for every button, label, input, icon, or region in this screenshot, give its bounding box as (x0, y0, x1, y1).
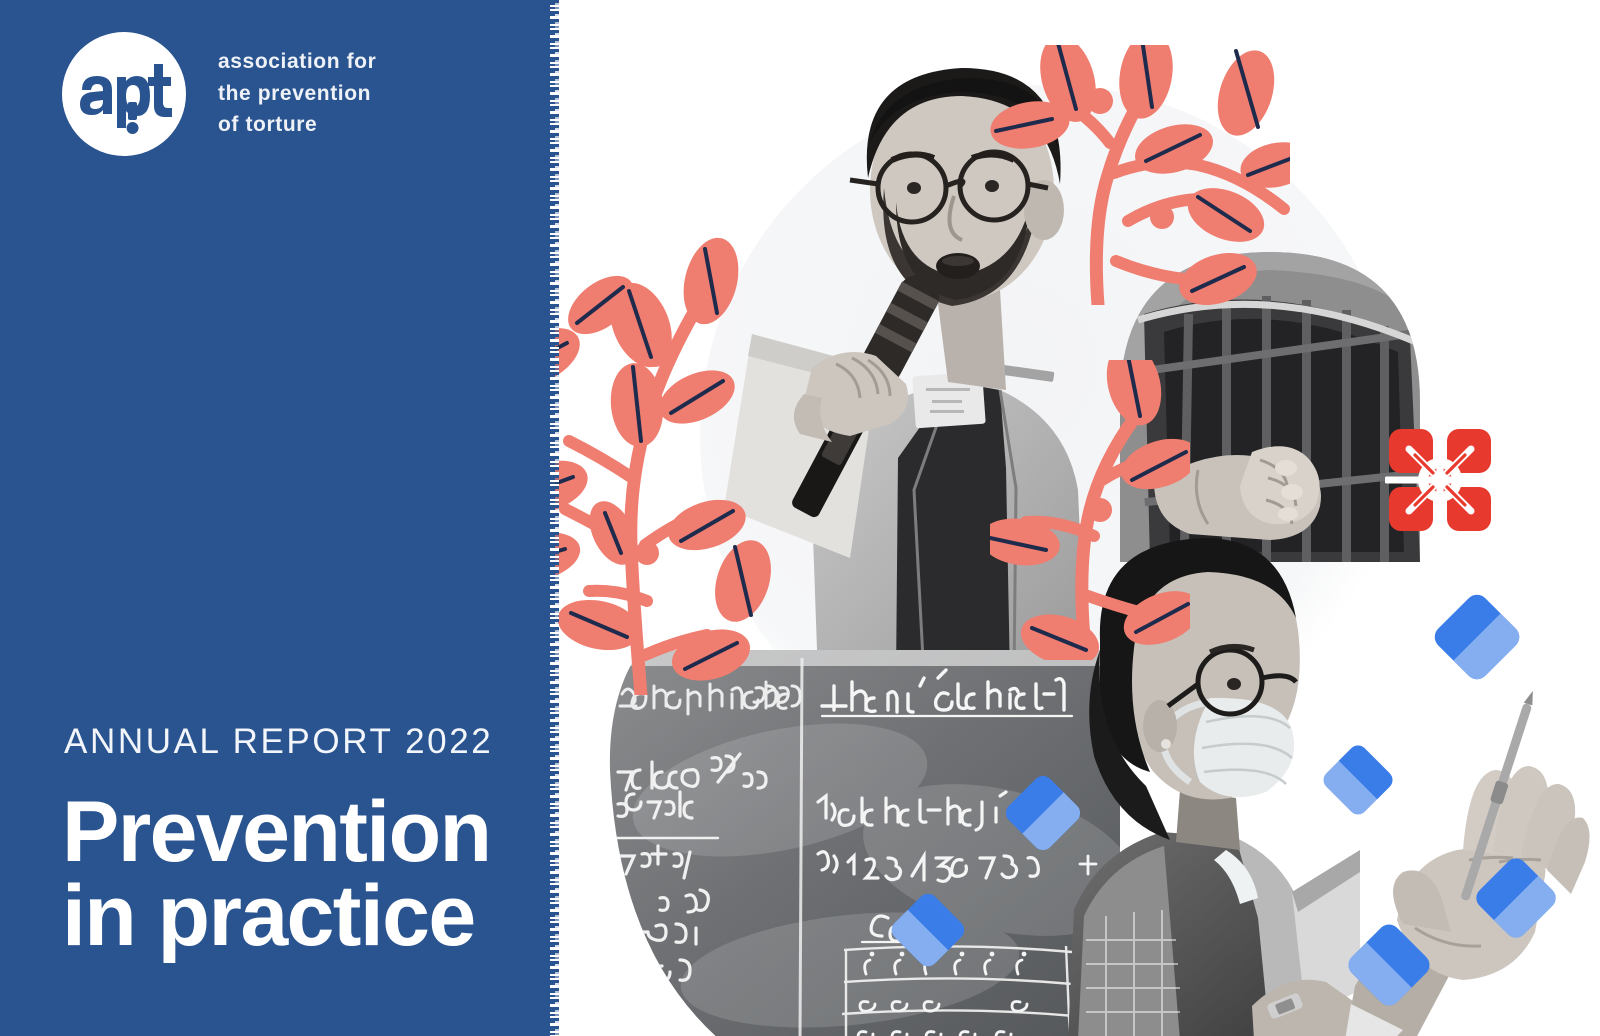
decoration-diamond-right-upper (1428, 588, 1526, 686)
apt-logo-badge (62, 32, 186, 156)
decoration-leaf-branch-top (960, 45, 1290, 305)
report-cover: association for the prevention of tortur… (0, 0, 1600, 1036)
brand-panel: association for the prevention of tortur… (0, 0, 555, 1036)
decoration-diamond-board-lower (886, 888, 970, 972)
decoration-diamond-board-upper (1000, 770, 1086, 856)
decoration-four-petal-flower (1385, 425, 1495, 535)
apt-wordmark-icon (62, 32, 186, 156)
logo-lockup: association for the prevention of tortur… (62, 32, 376, 156)
report-kicker: ANNUAL REPORT 2022 (64, 722, 493, 762)
decoration-diamond-woman (1318, 740, 1398, 820)
decoration-diamond-bottom-right (1342, 918, 1436, 1012)
decoration-leaf-branch-middle (990, 360, 1190, 660)
panel-torn-edge (550, 0, 559, 1036)
decoration-diamond-far-right (1470, 852, 1562, 944)
page-title: Prevention in practice (62, 790, 490, 959)
logo-tagline: association for the prevention of tortur… (218, 32, 376, 141)
